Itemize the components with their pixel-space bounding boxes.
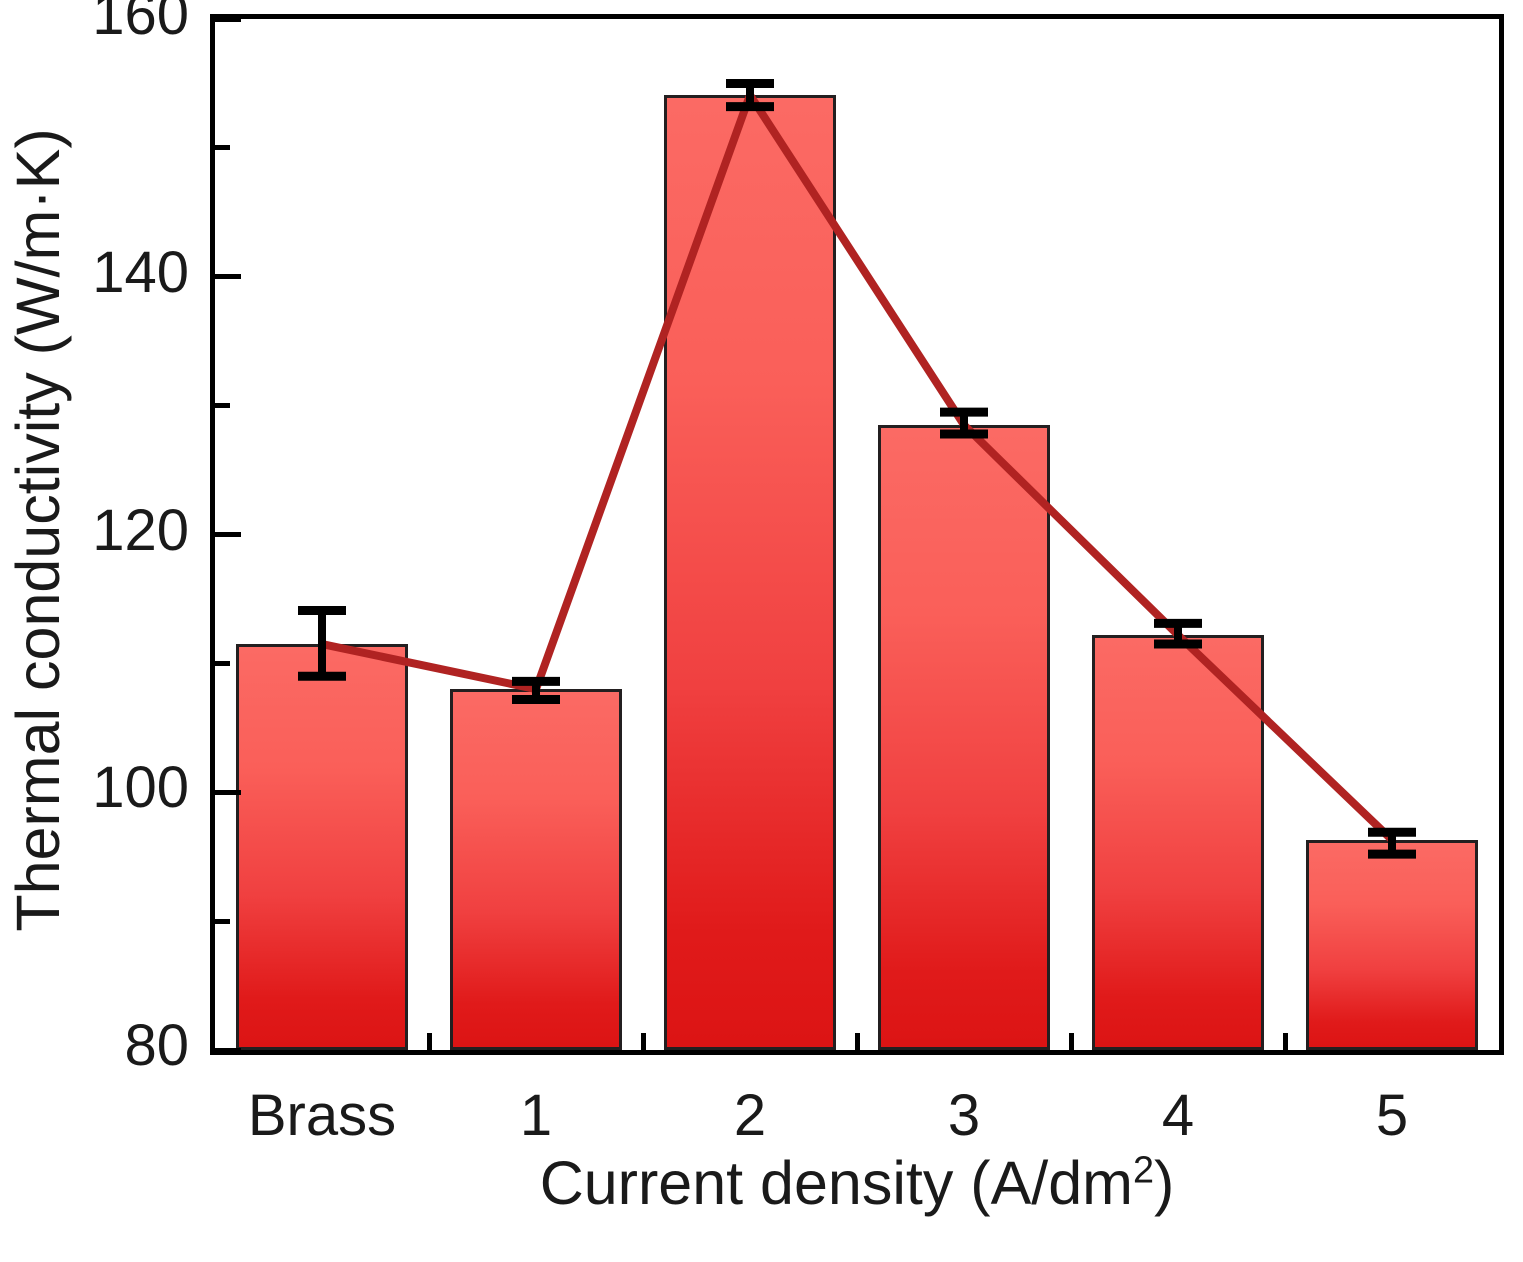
x-tick (1069, 1033, 1074, 1050)
x-axis-title-exponent: 2 (1133, 1150, 1154, 1192)
y-axis-title: Thermal conductivity (W/m·K) (0, 0, 80, 1060)
y-tick-major (215, 1048, 241, 1053)
plot-area: 80100120140160Brass12345 (210, 14, 1504, 1055)
x-axis-title-tail: ) (1154, 1149, 1174, 1217)
x-tick (855, 1033, 860, 1050)
x-tick-label-brass: Brass (215, 1087, 429, 1145)
error-bar-2 (726, 83, 774, 106)
y-tick-major (215, 274, 241, 279)
x-tick-label-2: 2 (643, 1087, 857, 1145)
error-bar-1 (512, 681, 560, 699)
x-tick (1283, 1033, 1288, 1050)
error-bar-brass (298, 611, 346, 677)
y-axis-title-text: Thermal conductivity (W/m·K) (3, 128, 73, 931)
y-tick-minor (215, 403, 230, 408)
error-bar-5 (1368, 832, 1416, 854)
x-tick-label-3: 3 (857, 1087, 1071, 1145)
y-tick-minor (215, 661, 230, 666)
y-tick-major (215, 17, 241, 22)
data-overlay (215, 19, 1499, 1050)
x-axis-title-text: Current density (A/dm (540, 1149, 1133, 1217)
y-tick-label: 140 (92, 244, 211, 302)
y-tick-label: 120 (92, 502, 211, 560)
y-tick-major (215, 790, 241, 795)
error-bar-4 (1154, 623, 1202, 644)
x-axis-title: Current density (A/dm2) (210, 1148, 1504, 1218)
chart-figure: Thermal conductivity (W/m·K) 80100120140… (0, 0, 1523, 1262)
y-tick-label: 100 (92, 759, 211, 817)
plot-inner: 80100120140160Brass12345 (215, 19, 1499, 1050)
trend-line (322, 95, 1392, 840)
x-tick-label-5: 5 (1285, 1087, 1499, 1145)
x-tick (427, 1033, 432, 1050)
x-tick-label-4: 4 (1071, 1087, 1285, 1145)
y-tick-major (215, 532, 241, 537)
y-tick-label: 160 (92, 0, 211, 44)
error-bar-3 (940, 412, 988, 434)
y-tick-minor (215, 919, 230, 924)
x-tick (641, 1033, 646, 1050)
y-tick-minor (215, 145, 230, 150)
x-tick-label-1: 1 (429, 1087, 643, 1145)
y-tick-label: 80 (124, 1017, 211, 1075)
